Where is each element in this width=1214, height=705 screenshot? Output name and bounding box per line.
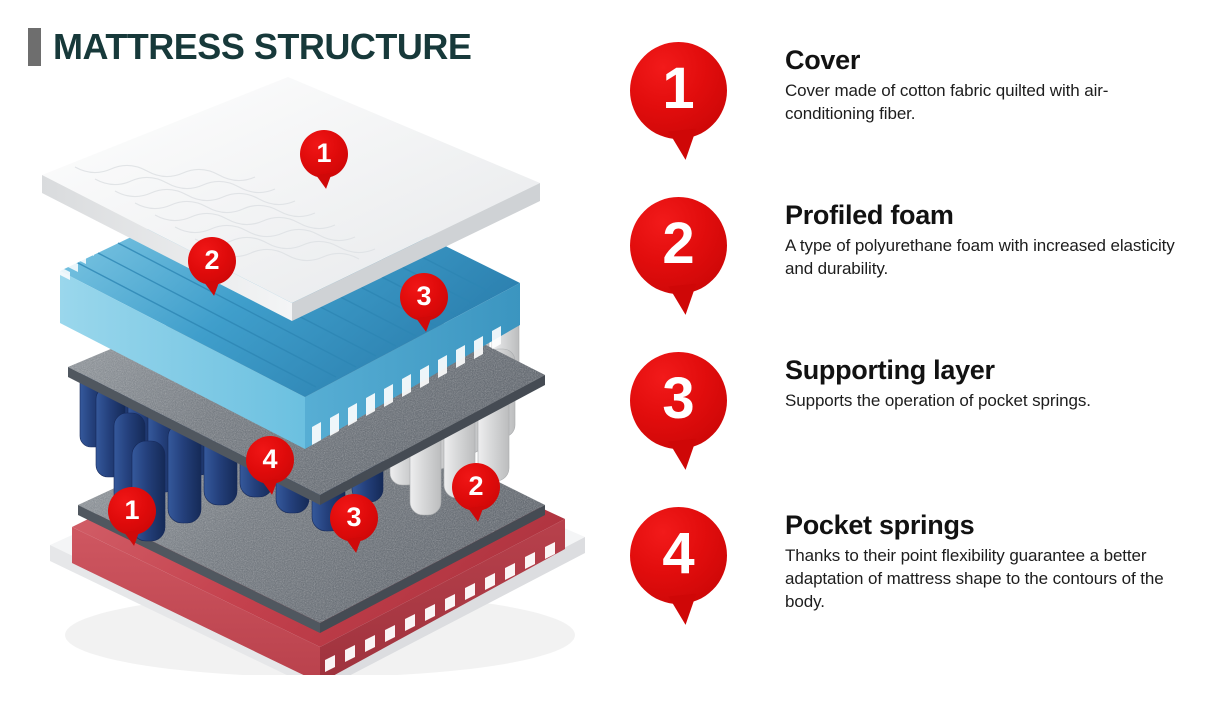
mattress-illustration: 1 2 3 4 3 2 1: [20, 75, 610, 675]
list-item: 3 Supporting layer Supports the operatio…: [630, 340, 1200, 495]
list-item: 1 Cover Cover made of cotton fabric quil…: [630, 30, 1200, 185]
legend-marker-4[interactable]: 4: [630, 507, 727, 604]
legend-description: Supports the operation of pocket springs…: [785, 389, 1195, 412]
title-accent-bar: [28, 28, 41, 66]
legend-title: Pocket springs: [785, 509, 1195, 541]
legend-description: A type of polyurethane foam with increas…: [785, 234, 1195, 280]
legend-text-block: Cover Cover made of cotton fabric quilte…: [785, 44, 1195, 125]
legend-title: Cover: [785, 44, 1195, 76]
legend-title: Supporting layer: [785, 354, 1195, 386]
legend-text-block: Profiled foam A type of polyurethane foa…: [785, 199, 1195, 280]
illustration-marker-1[interactable]: 1: [300, 130, 348, 178]
illustration-marker-2[interactable]: 2: [188, 237, 236, 285]
legend-marker-2[interactable]: 2: [630, 197, 727, 294]
page-title: MATTRESS STRUCTURE: [28, 28, 471, 66]
legend-text-block: Pocket springs Thanks to their point fle…: [785, 509, 1195, 613]
legend-description: Cover made of cotton fabric quilted with…: [785, 79, 1195, 125]
infographic-page: MATTRESS STRUCTURE: [0, 0, 1214, 705]
legend-marker-1[interactable]: 1: [630, 42, 727, 139]
illustration-marker-3[interactable]: 3: [400, 273, 448, 321]
legend-text-block: Supporting layer Supports the operation …: [785, 354, 1195, 412]
legend-marker-3[interactable]: 3: [630, 352, 727, 449]
illustration-marker-1-lower[interactable]: 1: [108, 487, 156, 535]
illustration-marker-3-lower[interactable]: 3: [330, 494, 378, 542]
legend-title: Profiled foam: [785, 199, 1195, 231]
page-title-text: MATTRESS STRUCTURE: [53, 28, 471, 66]
legend-list: 1 Cover Cover made of cotton fabric quil…: [630, 30, 1200, 650]
illustration-marker-4[interactable]: 4: [246, 436, 294, 484]
illustration-marker-2-lower[interactable]: 2: [452, 463, 500, 511]
list-item: 4 Pocket springs Thanks to their point f…: [630, 495, 1200, 650]
list-item: 2 Profiled foam A type of polyurethane f…: [630, 185, 1200, 340]
legend-description: Thanks to their point flexibility guaran…: [785, 544, 1195, 613]
